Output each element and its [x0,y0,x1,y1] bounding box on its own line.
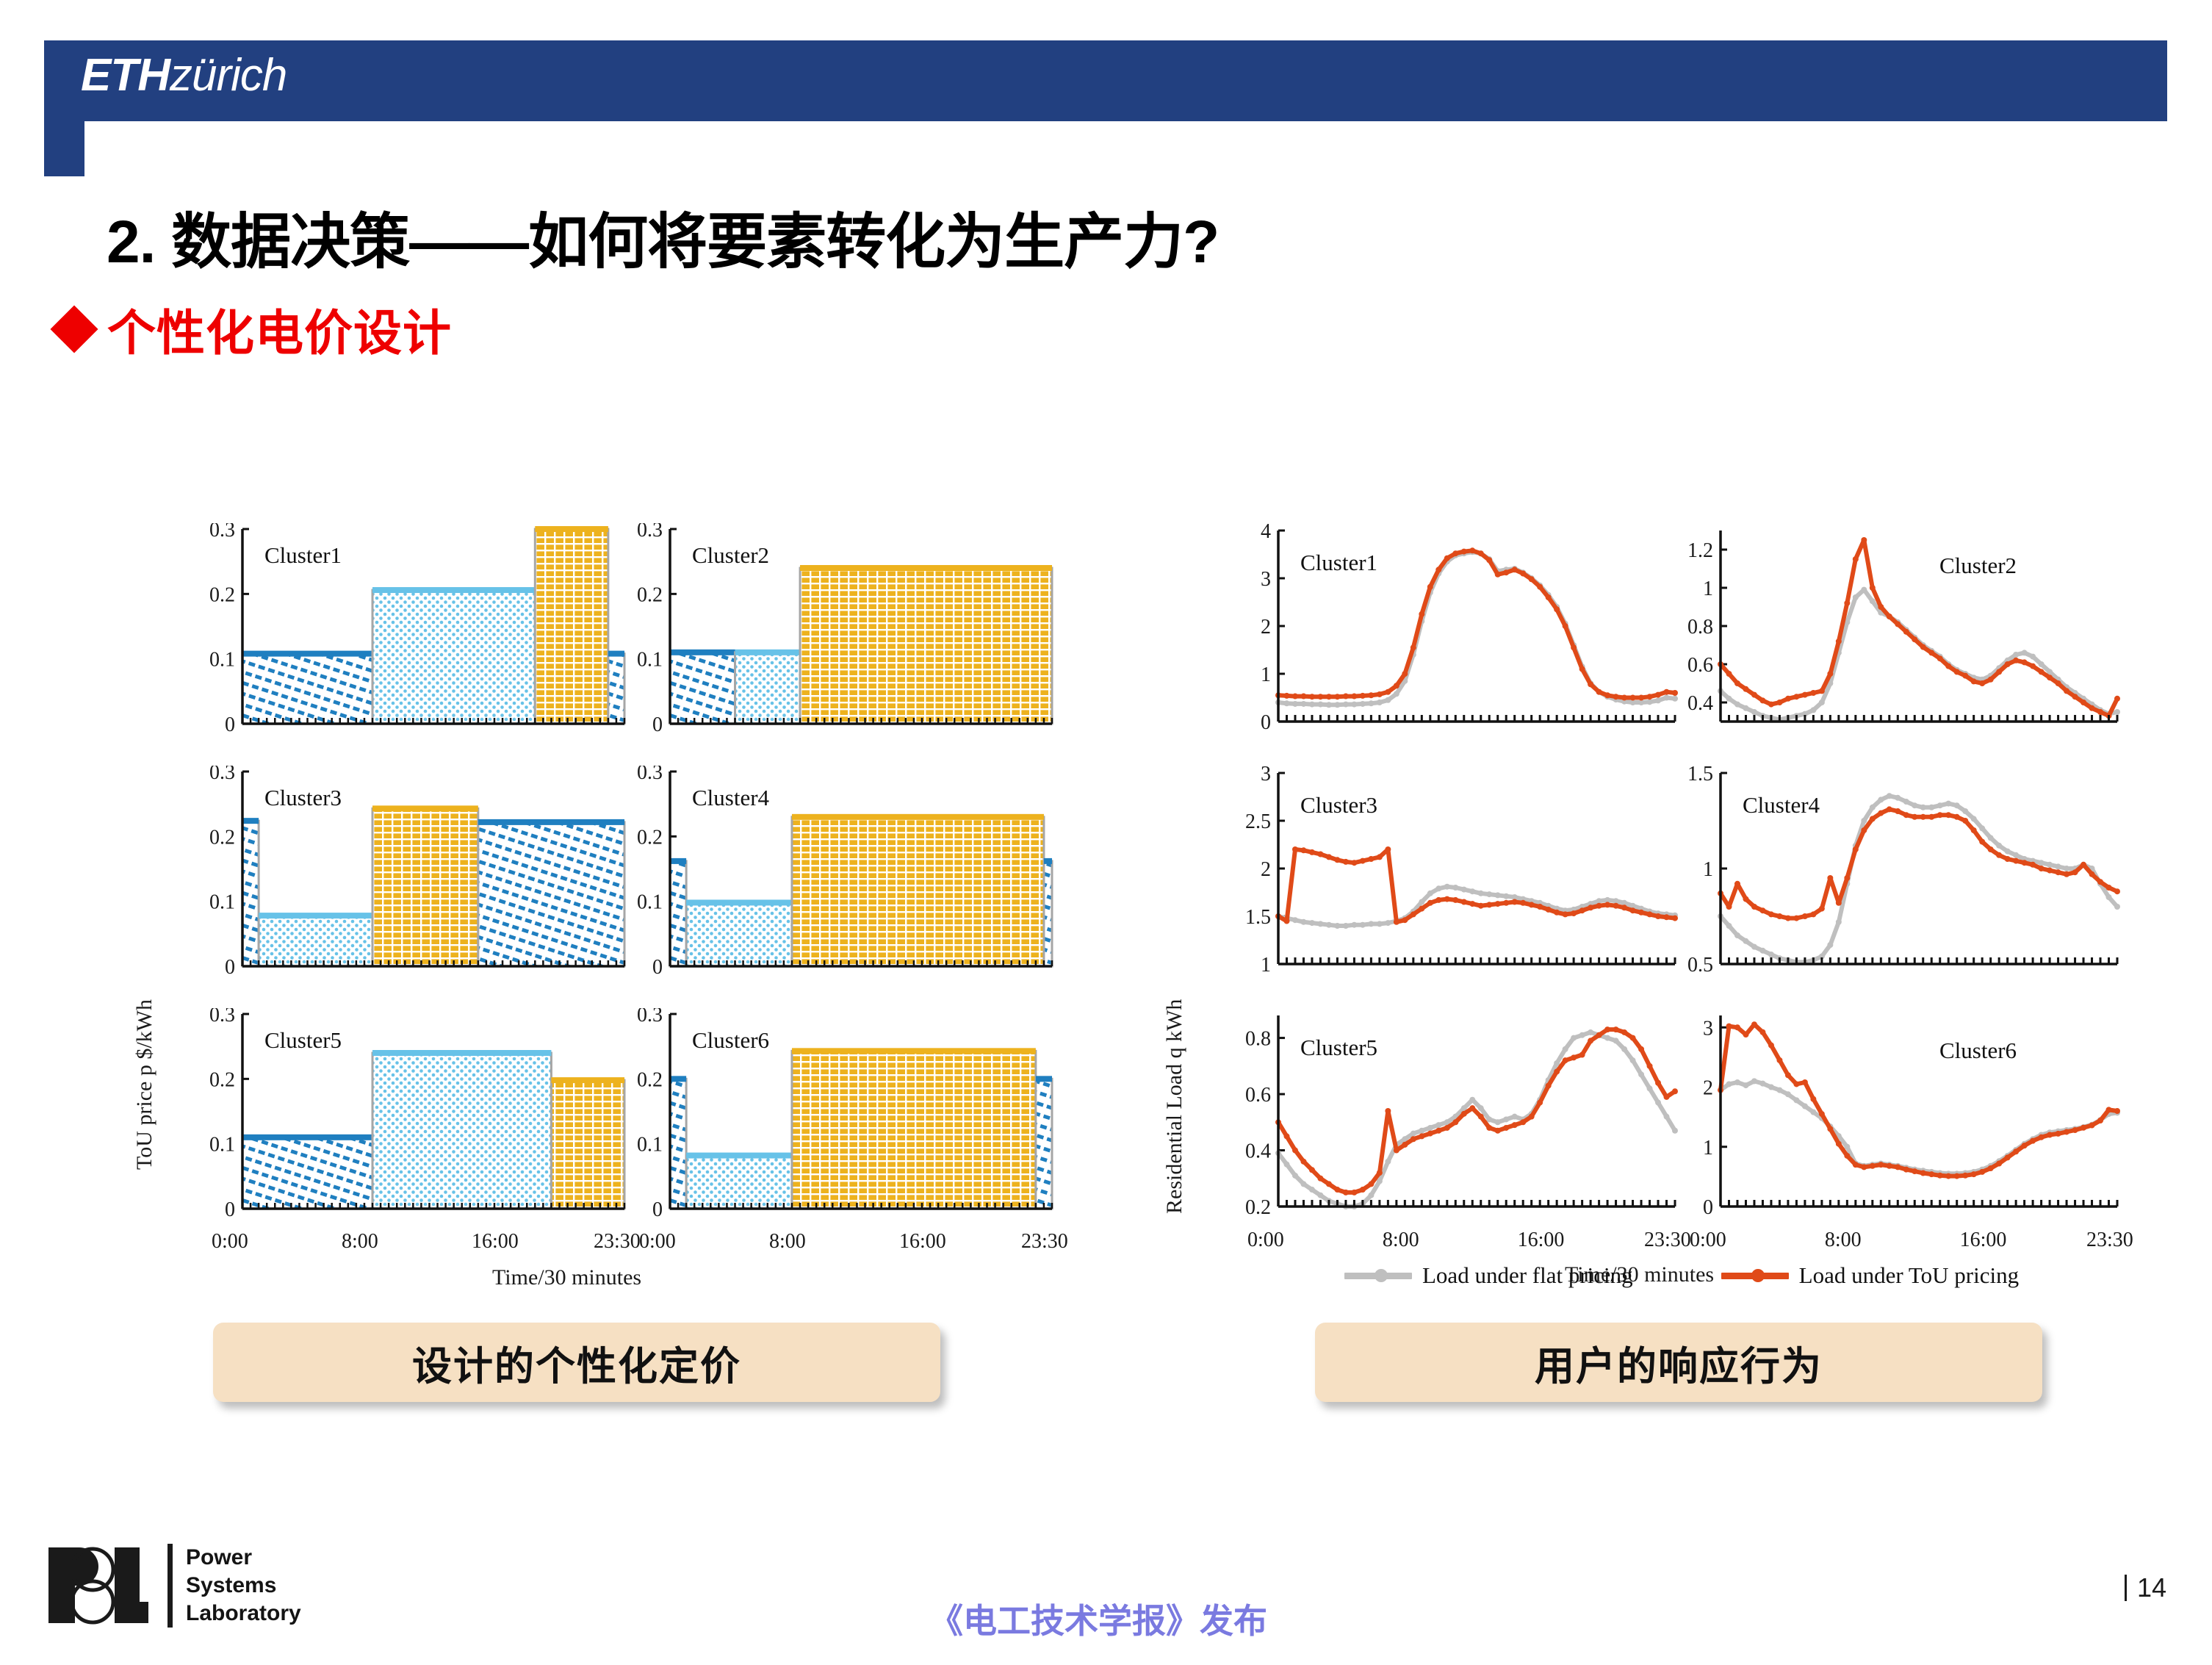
svg-text:1.5: 1.5 [1245,906,1271,929]
tou-xtick-1-1: 8:00 [769,1230,806,1254]
svg-text:4: 4 [1261,523,1271,543]
panel-title-cluster4: Cluster4 [1743,792,1820,819]
svg-text:0.1: 0.1 [209,1134,235,1157]
load-xtick-0-1: 8:00 [1383,1229,1419,1252]
svg-text:3: 3 [1703,1017,1713,1040]
load-panel-cluster1: 01234Cluster1 [1233,523,1681,739]
svg-text:2.5: 2.5 [1245,810,1271,833]
svg-text:0: 0 [652,956,663,979]
svg-text:0.2: 0.2 [637,1068,663,1091]
tou-panel-cluster3: 00.10.20.3Cluster3 [197,766,630,985]
diamond-bullet-icon [50,305,98,353]
page-number-value: 14 [2137,1572,2166,1603]
svg-text:0: 0 [225,713,235,736]
svg-text:0.2: 0.2 [209,1068,235,1091]
svg-text:0.4: 0.4 [1245,1140,1271,1163]
panel-title-cluster6: Cluster6 [692,1027,769,1054]
svg-text:1: 1 [1703,578,1713,600]
tou-panel-cluster4: 00.10.20.3Cluster4 [624,766,1058,985]
svg-text:0.3: 0.3 [637,766,663,784]
svg-text:1.5: 1.5 [1687,766,1713,785]
svg-text:3: 3 [1261,568,1271,591]
tou-panel-cluster2: 00.10.20.3Cluster2 [624,523,1058,743]
tou-xtick-0-2: 16:00 [472,1230,519,1254]
caption-right: 用户的响应行为 [1315,1323,2042,1402]
residential-load-figure: Residential Load q kWh01234Cluster10.40.… [1146,523,2175,1302]
panel-title-cluster2: Cluster2 [692,542,769,569]
page-number: 14 [2125,1572,2166,1603]
load-xtick-0-3: 23:30 [1644,1229,1691,1252]
svg-text:0.3: 0.3 [209,766,235,784]
eth-logo-bold: ETH [81,50,170,101]
subtitle-row: 个性化电价设计 [57,294,452,364]
eth-header-stub [44,121,84,176]
svg-text:0.6: 0.6 [1687,654,1713,677]
svg-text:2: 2 [1703,1077,1713,1100]
load-panel-cluster2: 0.40.60.811.2Cluster2 [1675,523,2123,739]
psl-wordmark: Power Systems Laboratory [167,1544,301,1628]
tou-xtick-1-0: 0:00 [639,1230,676,1254]
svg-text:0.3: 0.3 [637,523,663,542]
legend-item-tou: Load under ToU pricing [1721,1262,2019,1289]
panel-title-cluster1: Cluster1 [264,542,342,569]
tou-price-figure: ToU price p $/kWh00.10.20.3Cluster100.10… [110,523,1080,1302]
tou-panel-cluster5: 00.10.20.3Cluster5 [197,1008,630,1228]
svg-text:0.3: 0.3 [637,1008,663,1026]
svg-text:0.3: 0.3 [209,1008,235,1026]
svg-text:0.1: 0.1 [637,1134,663,1157]
tou-xtick-0-3: 23:30 [594,1230,641,1254]
svg-text:0: 0 [1261,711,1271,734]
tou-xtick-0-0: 0:00 [212,1230,248,1254]
page-title: 2. 数据决策——如何将要素转化为生产力? [107,193,1219,280]
svg-text:0: 0 [652,713,663,736]
legend-label-tou: Load under ToU pricing [1799,1262,2019,1289]
tou-panel-cluster6: 00.10.20.3Cluster6 [624,1008,1058,1228]
panel-title-cluster4: Cluster4 [692,785,769,811]
psl-mark-icon [44,1543,154,1628]
residential-load-ylabel: Residential Load q kWh [1162,999,1187,1214]
svg-text:0.6: 0.6 [1245,1084,1271,1107]
tou-price-ylabel: ToU price p $/kWh [132,999,157,1170]
legend-label-flat: Load under flat pricing [1422,1262,1633,1289]
svg-text:1: 1 [1261,664,1271,686]
eth-header-bar [44,40,2167,121]
tou-xtick-1-3: 23:30 [1021,1230,1068,1254]
svg-text:0: 0 [225,1198,235,1221]
tou-price-xlabel: Time/30 minutes [492,1265,641,1290]
svg-text:0.1: 0.1 [637,649,663,672]
svg-text:2: 2 [1261,858,1271,881]
panel-title-cluster6: Cluster6 [1939,1038,2017,1064]
panel-title-cluster5: Cluster5 [1300,1035,1377,1061]
psl-line-3: Laboratory [186,1600,301,1628]
panel-title-cluster5: Cluster5 [264,1027,342,1054]
psl-line-1: Power [186,1544,301,1572]
eth-logo-light: zürich [170,50,287,101]
load-xtick-1-1: 8:00 [1825,1229,1862,1252]
svg-text:0.1: 0.1 [637,891,663,914]
bottom-note: 《电工技术学报》发布 [929,1594,1267,1643]
load-panel-cluster6: 0123Cluster6 [1675,1008,2123,1224]
legend-item-flat: Load under flat pricing [1344,1262,1633,1289]
svg-text:0.5: 0.5 [1687,954,1713,977]
svg-text:0.2: 0.2 [209,583,235,606]
panel-title-cluster3: Cluster3 [1300,792,1377,819]
svg-text:0.1: 0.1 [209,891,235,914]
load-panel-cluster4: 0.511.5Cluster4 [1675,766,2123,982]
eth-zurich-logo: ETHzürich [81,53,287,98]
svg-text:0.4: 0.4 [1687,692,1713,715]
subtitle-text: 个性化电价设计 [107,294,452,364]
svg-text:0.2: 0.2 [637,583,663,606]
figure-legend: Load under flat pricing Load under ToU p… [1344,1262,2019,1289]
panel-title-cluster2: Cluster2 [1939,553,2017,579]
svg-text:0.8: 0.8 [1687,616,1713,639]
load-xtick-0-2: 16:00 [1518,1229,1565,1252]
caption-left: 设计的个性化定价 [213,1323,940,1402]
svg-text:0.8: 0.8 [1245,1028,1271,1051]
psl-line-2: Systems [186,1572,301,1600]
svg-text:0: 0 [652,1198,663,1221]
svg-text:0: 0 [225,956,235,979]
tou-panel-cluster1: 00.10.20.3Cluster1 [197,523,630,743]
svg-text:1: 1 [1261,954,1271,977]
load-panel-cluster5: 0.20.40.60.8Cluster5 [1233,1008,1681,1224]
svg-text:2: 2 [1261,616,1271,639]
tou-xtick-1-2: 16:00 [899,1230,946,1254]
load-panel-cluster3: 11.522.53Cluster3 [1233,766,1681,982]
panel-title-cluster1: Cluster1 [1300,550,1377,576]
svg-text:0.2: 0.2 [637,826,663,849]
svg-text:0.2: 0.2 [1245,1196,1271,1219]
svg-text:0.1: 0.1 [209,649,235,672]
svg-text:1: 1 [1703,1137,1713,1159]
load-xtick-1-3: 23:30 [2086,1229,2133,1252]
panel-title-cluster3: Cluster3 [264,785,342,811]
page-number-divider [2125,1575,2127,1601]
load-xtick-1-0: 0:00 [1690,1229,1726,1252]
svg-text:1.2: 1.2 [1687,539,1713,562]
svg-text:1: 1 [1703,858,1713,881]
tou-xtick-0-1: 8:00 [342,1230,378,1254]
svg-text:3: 3 [1261,766,1271,785]
load-xtick-1-2: 16:00 [1960,1229,2007,1252]
svg-text:0.3: 0.3 [209,523,235,542]
psl-logo: Power Systems Laboratory [44,1543,301,1628]
svg-text:0.2: 0.2 [209,826,235,849]
svg-text:0: 0 [1703,1196,1713,1219]
load-xtick-0-0: 0:00 [1247,1229,1284,1252]
